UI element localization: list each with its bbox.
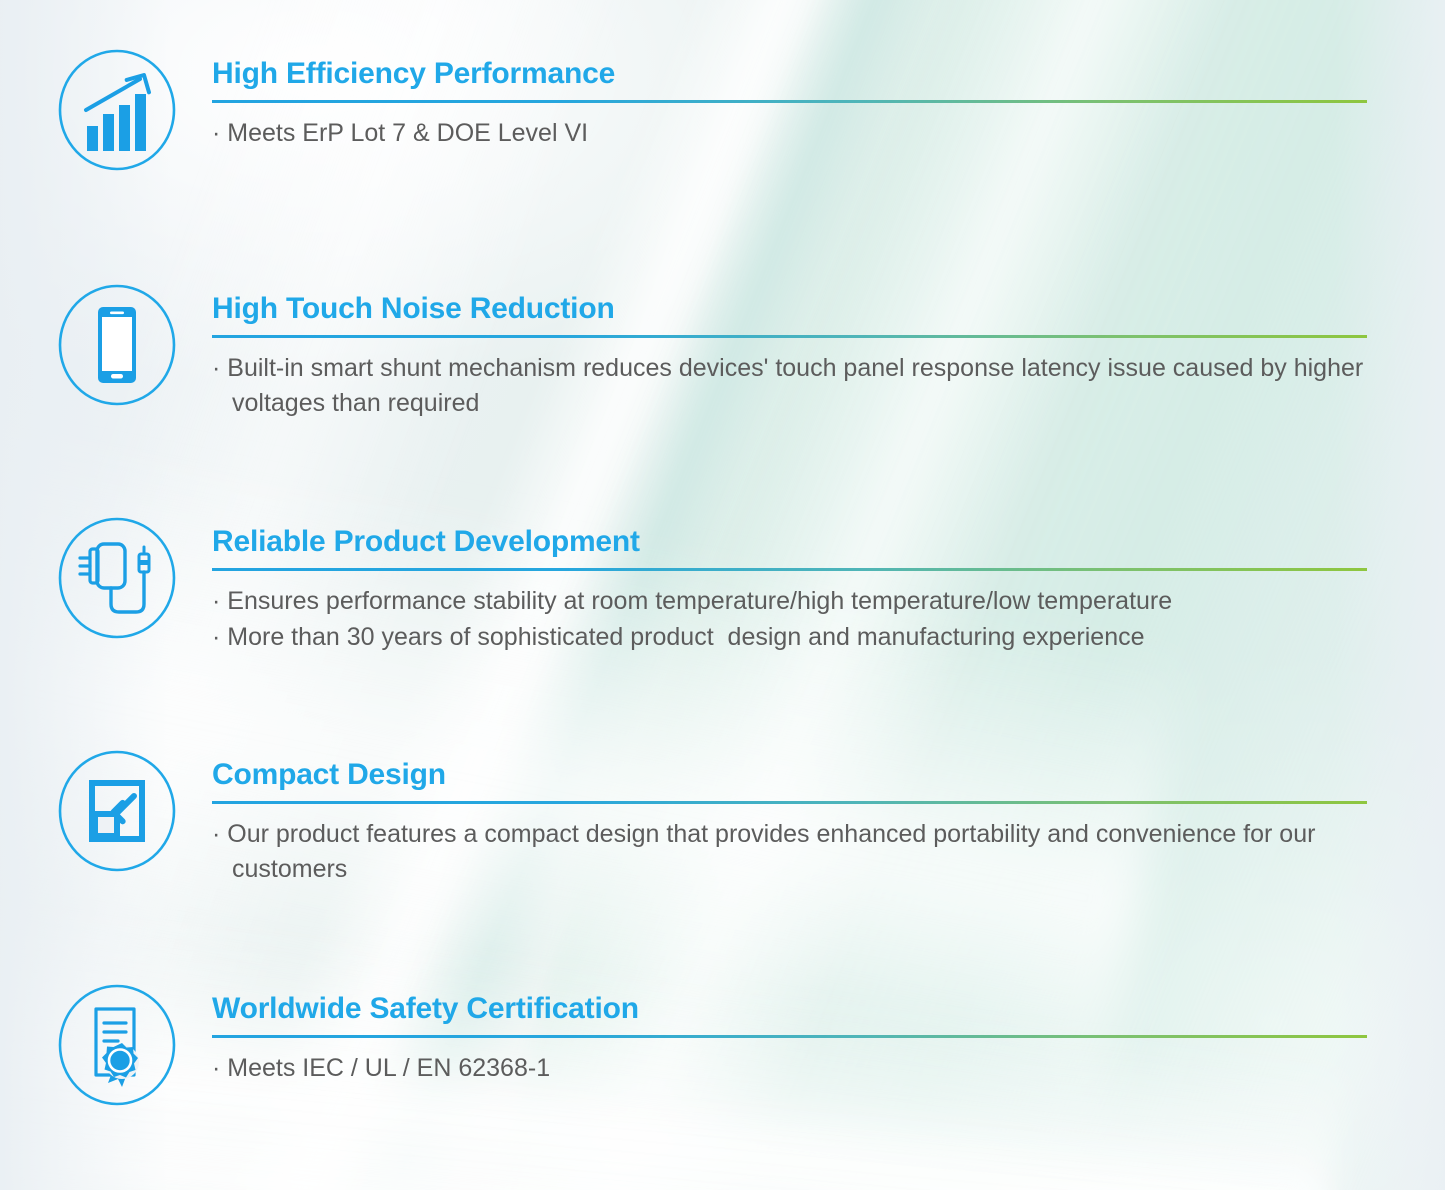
feature-divider [212,100,1367,103]
feature-bullet: · Ensures performance stability at room … [212,584,1372,619]
feature-divider [212,1035,1367,1038]
feature-title: Compact Design [212,759,1372,791]
feature-bullets: · Meets ErP Lot 7 & DOE Level VI [212,116,1372,151]
feature-title: Worldwide Safety Certification [212,993,1372,1025]
feature-divider [212,801,1367,804]
feature-body: High Touch Noise Reduction · Built-in sm… [212,293,1372,421]
feature-divider [212,568,1367,571]
feature-bullet: · Our product features a compact design … [212,817,1372,887]
feature-title: High Efficiency Performance [212,58,1372,90]
feature-title: Reliable Product Development [212,526,1372,558]
feature-divider [212,335,1367,338]
smartphone-icon [56,283,178,407]
feature-bullets: · Our product features a compact design … [212,817,1372,887]
feature-title: High Touch Noise Reduction [212,293,1372,325]
power-adapter-icon [56,516,178,640]
feature-bullets: · Built-in smart shunt mechanism reduces… [212,351,1372,421]
certificate-seal-icon [56,983,178,1107]
feature-body: High Efficiency Performance · Meets ErP … [212,58,1372,151]
feature-body: Reliable Product Development · Ensures p… [212,526,1372,655]
feature-bullet: · More than 30 years of sophisticated pr… [212,620,1372,655]
feature-body: Compact Design · Our product features a … [212,759,1372,887]
feature-list: High Efficiency Performance · Meets ErP … [0,0,1445,1190]
feature-bullet: · Built-in smart shunt mechanism reduces… [212,351,1372,421]
compact-resize-icon [56,749,178,873]
bar-chart-growth-icon [56,48,178,172]
feature-bullets: · Meets IEC / UL / EN 62368-1 [212,1051,1372,1086]
feature-bullet: · Meets IEC / UL / EN 62368-1 [212,1051,1372,1086]
feature-body: Worldwide Safety Certification · Meets I… [212,993,1372,1086]
feature-bullets: · Ensures performance stability at room … [212,584,1372,655]
feature-bullet: · Meets ErP Lot 7 & DOE Level VI [212,116,1372,151]
